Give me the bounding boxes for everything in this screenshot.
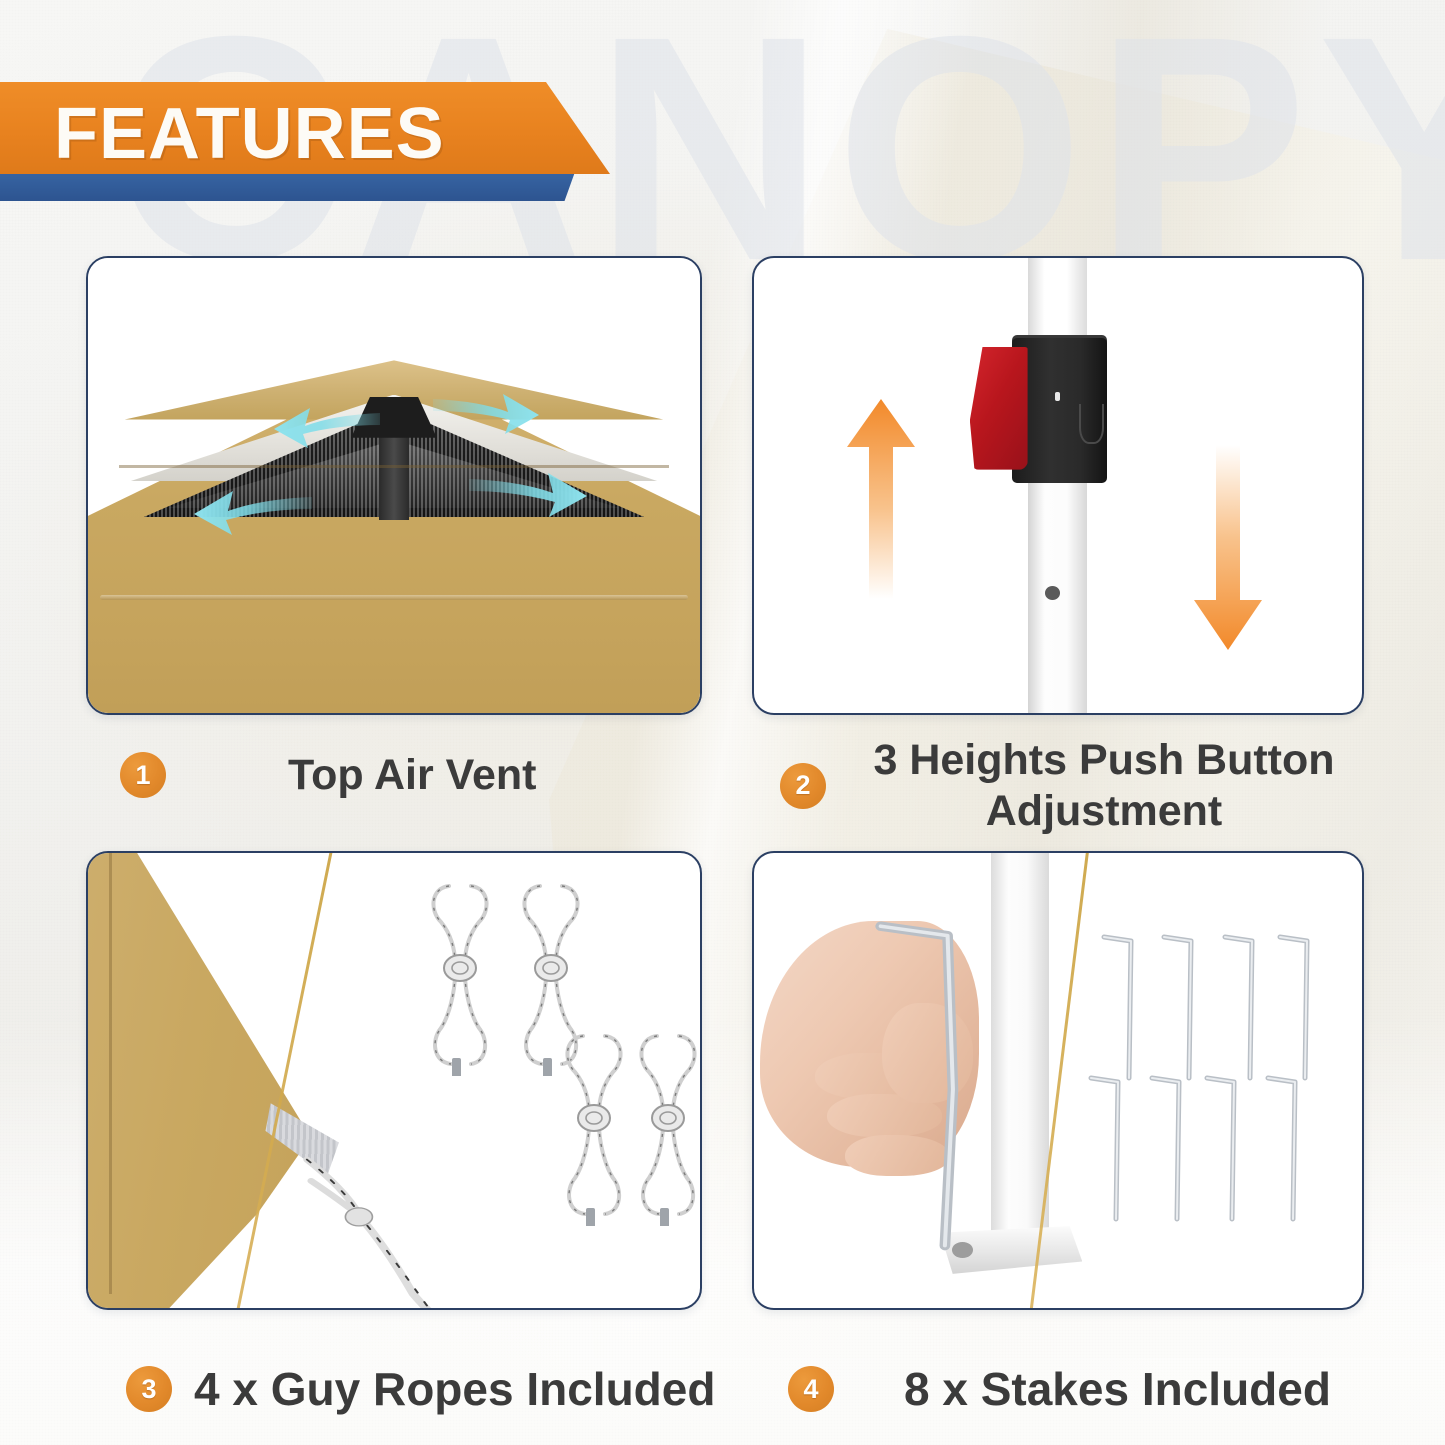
- housing-slot: [1079, 404, 1104, 445]
- feature-label-3: 4 x Guy Ropes Included: [194, 1362, 715, 1416]
- stake-8: [1265, 1071, 1313, 1223]
- feature-label-4: 8 x Stakes Included: [904, 1362, 1331, 1416]
- features-banner: FEATURES: [0, 82, 620, 212]
- feature-badge-2: 2: [780, 763, 826, 809]
- held-stake: [870, 912, 1004, 1267]
- stake-2: [1161, 930, 1209, 1082]
- housing-marker: [1055, 392, 1060, 401]
- feature-panel-guy-ropes[interactable]: [86, 851, 702, 1310]
- height-up-arrow-icon: [845, 399, 917, 599]
- attached-guy-rope: [284, 1153, 492, 1310]
- coiled-guy-rope-3: [559, 1026, 631, 1226]
- height-down-arrow-icon: [1192, 445, 1264, 650]
- feature-caption-4: 4 8 x Stakes Included: [788, 1362, 1388, 1416]
- feature-panel-top-air-vent[interactable]: [86, 256, 702, 715]
- banner-title: FEATURES: [54, 88, 445, 180]
- feature-caption-3: 3 4 x Guy Ropes Included: [126, 1362, 726, 1416]
- airflow-arrow-left-upper-icon: [272, 399, 382, 451]
- canopy-seam-line: [100, 595, 688, 600]
- airflow-arrow-right-upper-icon: [431, 385, 541, 437]
- stake-1: [1101, 930, 1149, 1082]
- coiled-guy-rope-1: [425, 876, 497, 1076]
- coiled-guy-rope-4: [633, 1026, 702, 1226]
- stake-5: [1088, 1071, 1136, 1223]
- feature-panel-stakes[interactable]: [752, 851, 1364, 1310]
- feature-label-2-line2: Adjustment: [854, 786, 1354, 837]
- feature-caption-1: 1 Top Air Vent: [120, 750, 700, 801]
- feature-caption-2: 2 3 Heights Push Button Adjustment: [780, 735, 1360, 836]
- airflow-arrow-left-lower-icon: [192, 481, 314, 539]
- feature-panel-push-button-adjustment[interactable]: [752, 256, 1364, 715]
- stake-7: [1204, 1071, 1252, 1223]
- stake-3: [1222, 930, 1270, 1082]
- canopy-edge-seam: [109, 851, 112, 1294]
- stake-6: [1149, 1071, 1197, 1223]
- feature-label-2-line1: 3 Heights Push Button: [854, 735, 1354, 786]
- feature-badge-1: 1: [120, 752, 166, 798]
- feature-label-2: 3 Heights Push Button Adjustment: [854, 735, 1354, 836]
- feature-label-1: Top Air Vent: [288, 750, 536, 801]
- airflow-arrow-right-lower-icon: [467, 463, 589, 521]
- feature-badge-4: 4: [788, 1366, 834, 1412]
- stake-4: [1277, 930, 1325, 1082]
- red-push-button[interactable]: [970, 347, 1028, 470]
- feature-badge-3: 3: [126, 1366, 172, 1412]
